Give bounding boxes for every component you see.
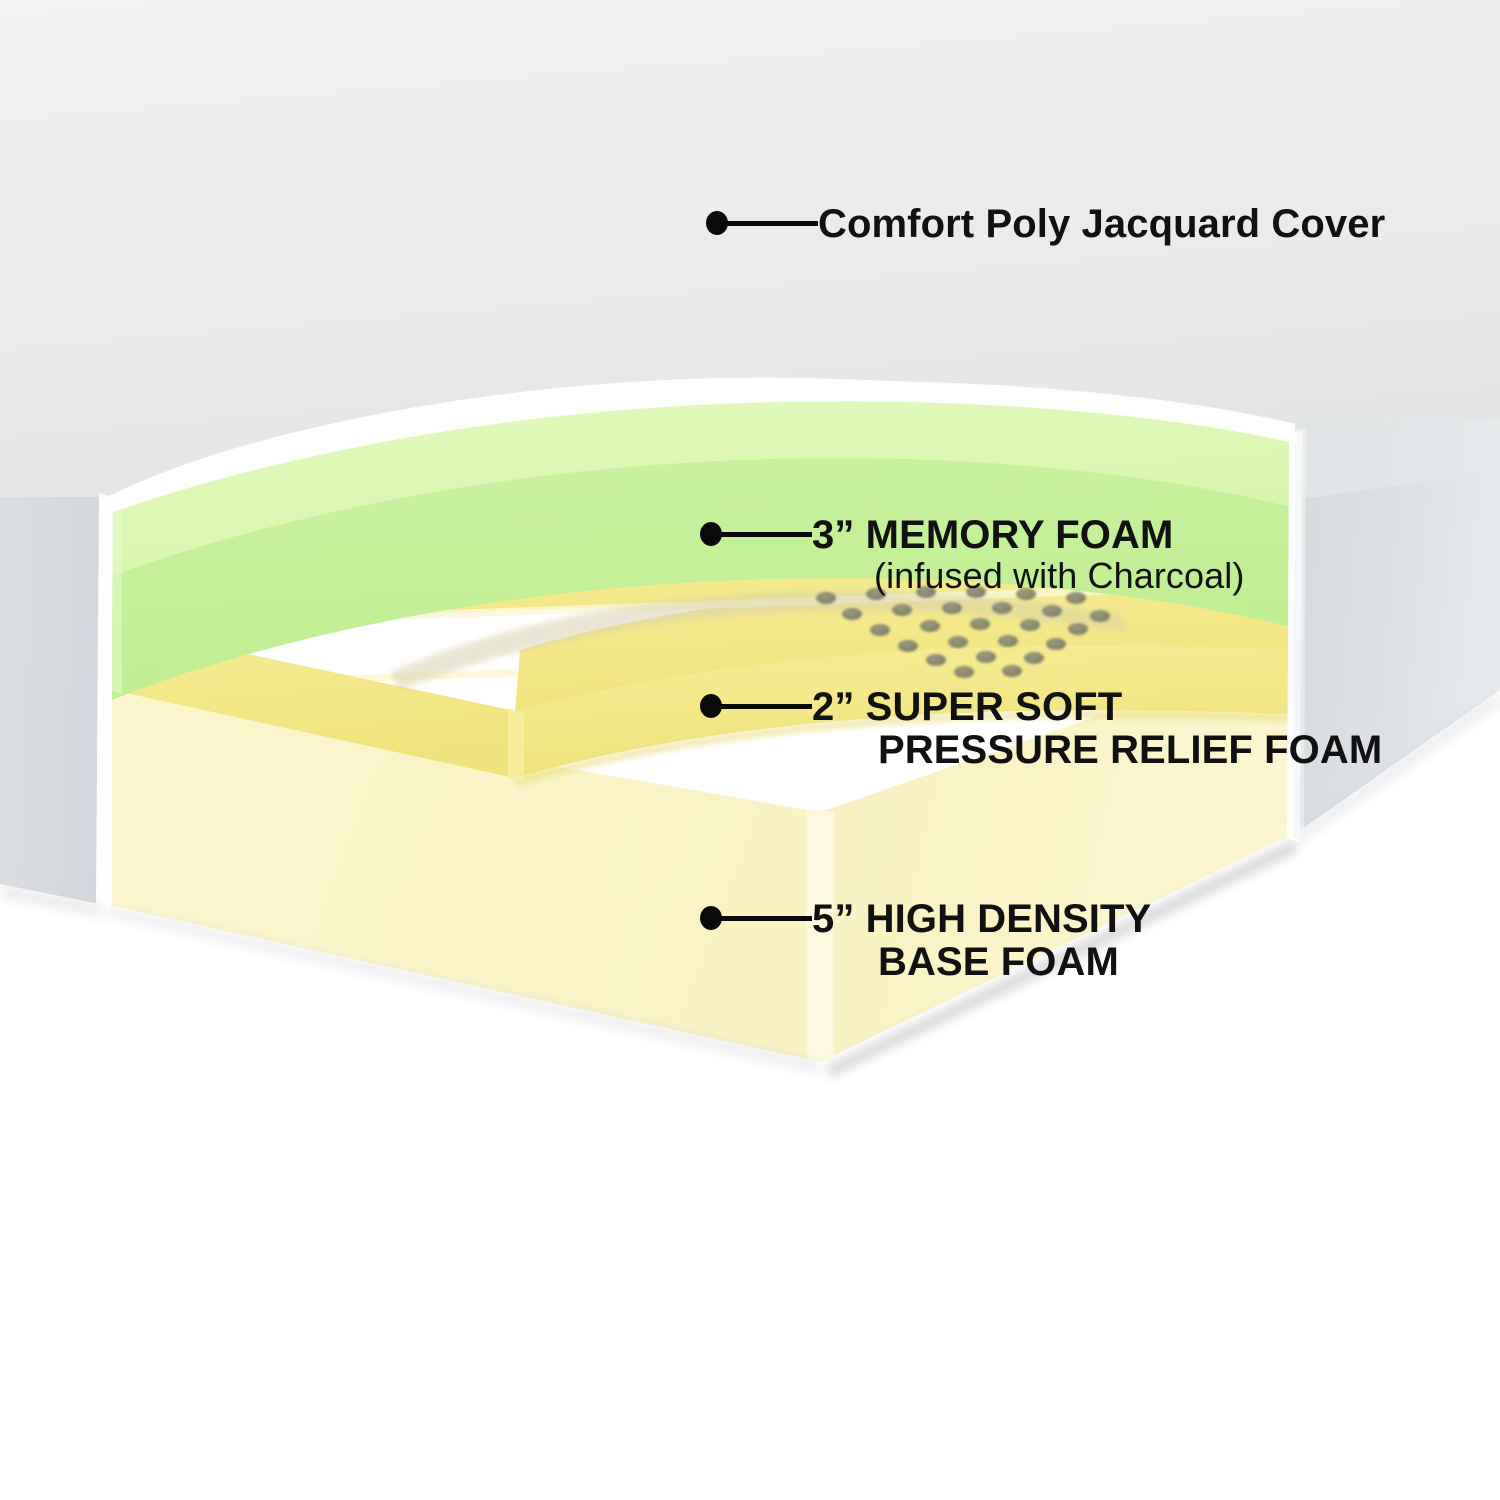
leader-line-marker-soft (700, 686, 812, 720)
callout-high-density-base-foam[interactable]: 5” HIGH DENSITY BASE FOAM (700, 898, 1151, 984)
callout-memory-foam[interactable]: 3” MEMORY FOAM (infused with Charcoal) (700, 514, 1244, 596)
callout-primary-soft: 2” SUPER SOFT (812, 686, 1382, 729)
callout-secondary-soft: PRESSURE RELIEF FOAM (812, 729, 1382, 772)
callout-text-base: 5” HIGH DENSITY BASE FOAM (812, 898, 1151, 984)
leader-line-marker-cover (706, 203, 818, 237)
callout-secondary-memory: (infused with Charcoal) (812, 557, 1244, 596)
leader-line-icon (724, 221, 818, 226)
leader-line-icon (718, 704, 812, 709)
mattress-cutaway-diagram: Comfort Poly Jacquard Cover 3” MEMORY FO… (0, 0, 1500, 1500)
leader-line-marker-base (700, 898, 812, 932)
callout-text-cover: Comfort Poly Jacquard Cover (818, 203, 1385, 246)
callout-primary-base: 5” HIGH DENSITY (812, 898, 1151, 941)
callout-text-soft: 2” SUPER SOFT PRESSURE RELIEF FOAM (812, 686, 1382, 772)
callout-secondary-base: BASE FOAM (812, 941, 1151, 984)
leader-line-icon (718, 916, 812, 921)
callout-primary-memory: 3” MEMORY FOAM (812, 514, 1244, 557)
callout-comfort-poly-jacquard-cover[interactable]: Comfort Poly Jacquard Cover (706, 203, 1385, 246)
leader-line-icon (718, 532, 812, 537)
callout-primary-cover: Comfort Poly Jacquard Cover (818, 203, 1385, 246)
callout-text-memory: 3” MEMORY FOAM (infused with Charcoal) (812, 514, 1244, 596)
leader-line-marker-memory (700, 514, 812, 548)
mattress-cover-left-side (0, 497, 107, 905)
callout-super-soft-foam[interactable]: 2” SUPER SOFT PRESSURE RELIEF FOAM (700, 686, 1382, 772)
